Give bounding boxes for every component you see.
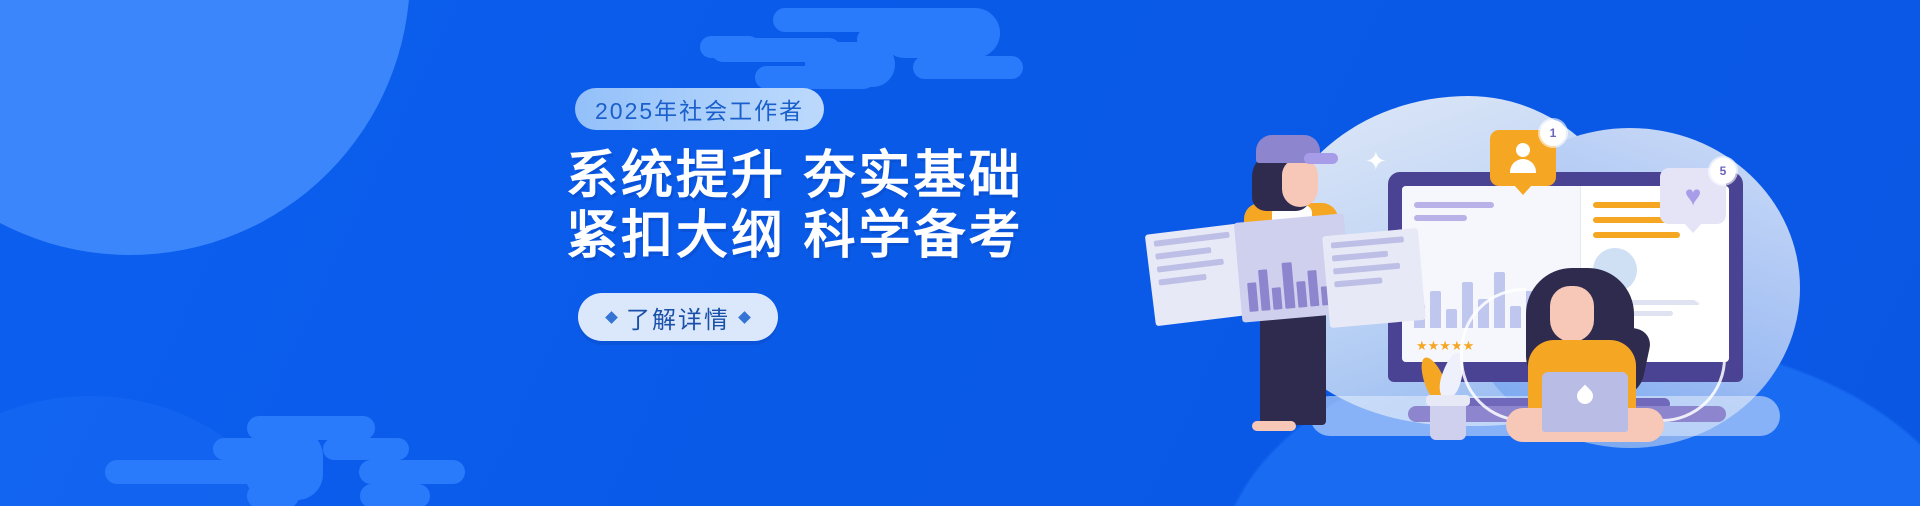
cap-brim bbox=[1304, 153, 1338, 164]
chart-board bbox=[1322, 228, 1426, 328]
person-legs bbox=[1260, 307, 1326, 425]
like-notification-badge: ♥ 5 bbox=[1660, 168, 1726, 224]
headline-line-1: 系统提升 夯实基础 bbox=[566, 147, 1023, 205]
headline-line-2: 紧扣大纲 科学备考 bbox=[566, 206, 1023, 266]
diamond-icon bbox=[605, 311, 618, 324]
droplet-icon bbox=[1574, 385, 1597, 408]
learn-more-button[interactable]: 了解详情 bbox=[578, 293, 778, 341]
plant-pot bbox=[1430, 400, 1466, 440]
hero-illustration: ✦ ✦ ★★★★★ bbox=[1160, 0, 1920, 506]
badge-count: 5 bbox=[1710, 158, 1736, 184]
promo-banner: 2025年社会工作者 系统提升 夯实基础 紧扣大纲 科学备考 了解详情 ✦ ✦ bbox=[0, 0, 1920, 506]
badge-count: 1 bbox=[1540, 120, 1566, 146]
person-face bbox=[1282, 159, 1318, 207]
text-line bbox=[1593, 232, 1679, 238]
text-line bbox=[1414, 202, 1494, 208]
banner-copy: 2025年社会工作者 系统提升 夯实基础 紧扣大纲 科学备考 了解详情 bbox=[0, 0, 1060, 506]
diamond-icon bbox=[738, 311, 751, 324]
course-tag-label: 2025年社会工作者 bbox=[595, 92, 804, 126]
laptop-icon bbox=[1542, 372, 1628, 432]
seated-person-graphic bbox=[1490, 268, 1680, 448]
headline: 系统提升 夯实基础 紧扣大纲 科学备考 bbox=[566, 146, 1023, 266]
text-line bbox=[1414, 215, 1467, 221]
heart-icon: ♥ bbox=[1685, 182, 1702, 210]
person-face bbox=[1550, 286, 1594, 342]
user-icon bbox=[1509, 143, 1537, 173]
plant-pot-rim bbox=[1426, 395, 1470, 406]
course-tag-badge: 2025年社会工作者 bbox=[575, 88, 824, 130]
learn-more-label: 了解详情 bbox=[626, 300, 730, 335]
person-foot bbox=[1252, 421, 1296, 431]
user-notification-badge: 1 bbox=[1490, 130, 1556, 186]
